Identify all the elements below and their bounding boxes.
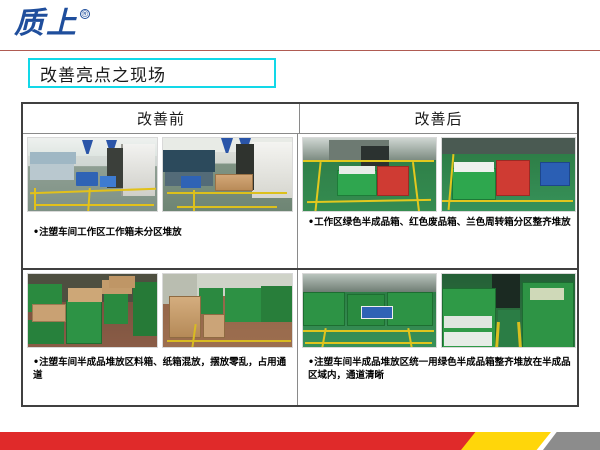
table-row: •注塑车间工作区工作箱未分区堆放 •工作区绿色半 (23, 134, 577, 270)
photo-group-row1-after (302, 137, 576, 212)
photo-group-row2-before (27, 273, 293, 348)
wip-area-cartons-blocking-aisle (162, 273, 293, 348)
wip-area-mixed-cartons-crates (27, 273, 158, 348)
footer-decorative-band (0, 432, 600, 450)
before-after-table: 改善前 改善后 (21, 102, 579, 407)
band-segment-red (0, 432, 462, 450)
caption-row1-after: •工作区绿色半成品箱、红色废品箱、兰色周转箱分区整齐堆放 (302, 212, 576, 229)
caption-row1-before: •注塑车间工作区工作箱未分区堆放 (27, 212, 293, 239)
caption-row2-before: •注塑车间半成品堆放区料箱、纸箱混放，摆放零乱，占用通道 (27, 348, 293, 382)
page-title: 改善亮点之现场 (30, 61, 166, 86)
injection-workshop-unsorted-bins-2 (162, 137, 293, 212)
logo-text: 质上 (14, 4, 78, 44)
band-segment-yellow (461, 432, 551, 450)
registered-trademark-icon: ® (80, 9, 90, 19)
photo-group-row2-after (302, 273, 576, 348)
header-divider (0, 50, 600, 51)
injection-workshop-unsorted-bins-1 (27, 137, 158, 212)
table-row: •注塑车间半成品堆放区料箱、纸箱混放，摆放零乱，占用通道 (23, 270, 577, 405)
work-area-sorted-green-red-blue-crates (441, 137, 576, 212)
band-segment-grey (543, 432, 600, 450)
column-header-before: 改善前 (23, 104, 300, 133)
slide-title-box: 改善亮点之现场 (28, 58, 276, 88)
cell-row1-after: •工作区绿色半成品箱、红色废品箱、兰色周转箱分区整齐堆放 (298, 134, 580, 268)
table-header-row: 改善前 改善后 (23, 104, 577, 134)
wip-area-uniform-green-crates (302, 273, 437, 348)
cell-row2-before: •注塑车间半成品堆放区料箱、纸箱混放，摆放零乱，占用通道 (23, 270, 298, 405)
photo-group-row1-before (27, 137, 293, 212)
work-area-sorted-green-red-crates (302, 137, 437, 212)
brand-logo: 质上 ® (14, 4, 90, 46)
cell-row2-after: •注塑车间半成品堆放区统一用绿色半成品箱整齐堆放在半成品区域内，通道清晰 (298, 270, 580, 405)
cell-row1-before: •注塑车间工作区工作箱未分区堆放 (23, 134, 298, 268)
slide: 质上 ® 改善亮点之现场 改善前 改善后 (0, 0, 600, 450)
caption-row2-after: •注塑车间半成品堆放区统一用绿色半成品箱整齐堆放在半成品区域内，通道清晰 (302, 348, 576, 382)
column-header-after: 改善后 (300, 104, 577, 133)
wip-area-green-crate-rows-clear-aisle (441, 273, 576, 348)
